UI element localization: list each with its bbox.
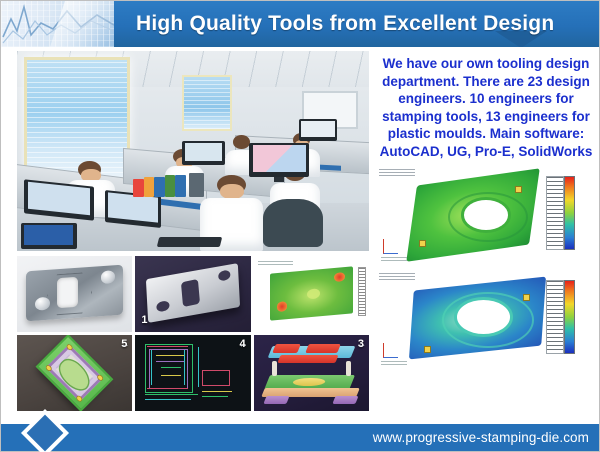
gallery-item[interactable] <box>254 256 369 332</box>
website-url[interactable]: www.progressive-stamping-die.com <box>373 424 589 451</box>
window-small <box>182 75 231 131</box>
slide-content: 1 <box>1 47 599 422</box>
fea-blue-simulation <box>375 268 597 368</box>
gallery-item[interactable]: 5 ← <box>17 335 132 411</box>
legend-ticks <box>546 176 564 250</box>
description-text: We have our own tooling design departmen… <box>375 51 597 160</box>
arrow-left-icon: ← <box>120 339 129 349</box>
axis-triad-icon <box>383 239 398 254</box>
arrow-left-icon: ← <box>357 339 366 349</box>
slide-footer: www.progressive-stamping-die.com <box>1 424 599 451</box>
color-legend-bar <box>564 280 575 354</box>
slide: High Quality Tools from Excellent Design <box>0 0 600 452</box>
gallery-item[interactable] <box>17 256 132 332</box>
gallery-item[interactable]: 1 <box>135 256 250 332</box>
left-column: 1 <box>17 51 369 411</box>
right-column: We have our own tooling design departmen… <box>375 51 597 368</box>
header-decoration <box>1 1 114 47</box>
fea-green-simulation <box>375 164 597 264</box>
color-legend-bar <box>564 176 575 250</box>
gallery-item[interactable]: 4 ← <box>135 335 250 411</box>
office-photo <box>17 51 369 251</box>
gallery-badge: 1 <box>141 314 148 326</box>
page-title: High Quality Tools from Excellent Design <box>136 1 554 47</box>
gallery-item[interactable]: 3 ← <box>254 335 369 411</box>
legend-ticks <box>546 280 564 354</box>
arrow-left-icon: ← <box>239 339 248 349</box>
slide-header: High Quality Tools from Excellent Design <box>1 1 599 47</box>
cad-gallery: 1 <box>17 256 369 411</box>
axis-triad-icon <box>383 343 398 358</box>
